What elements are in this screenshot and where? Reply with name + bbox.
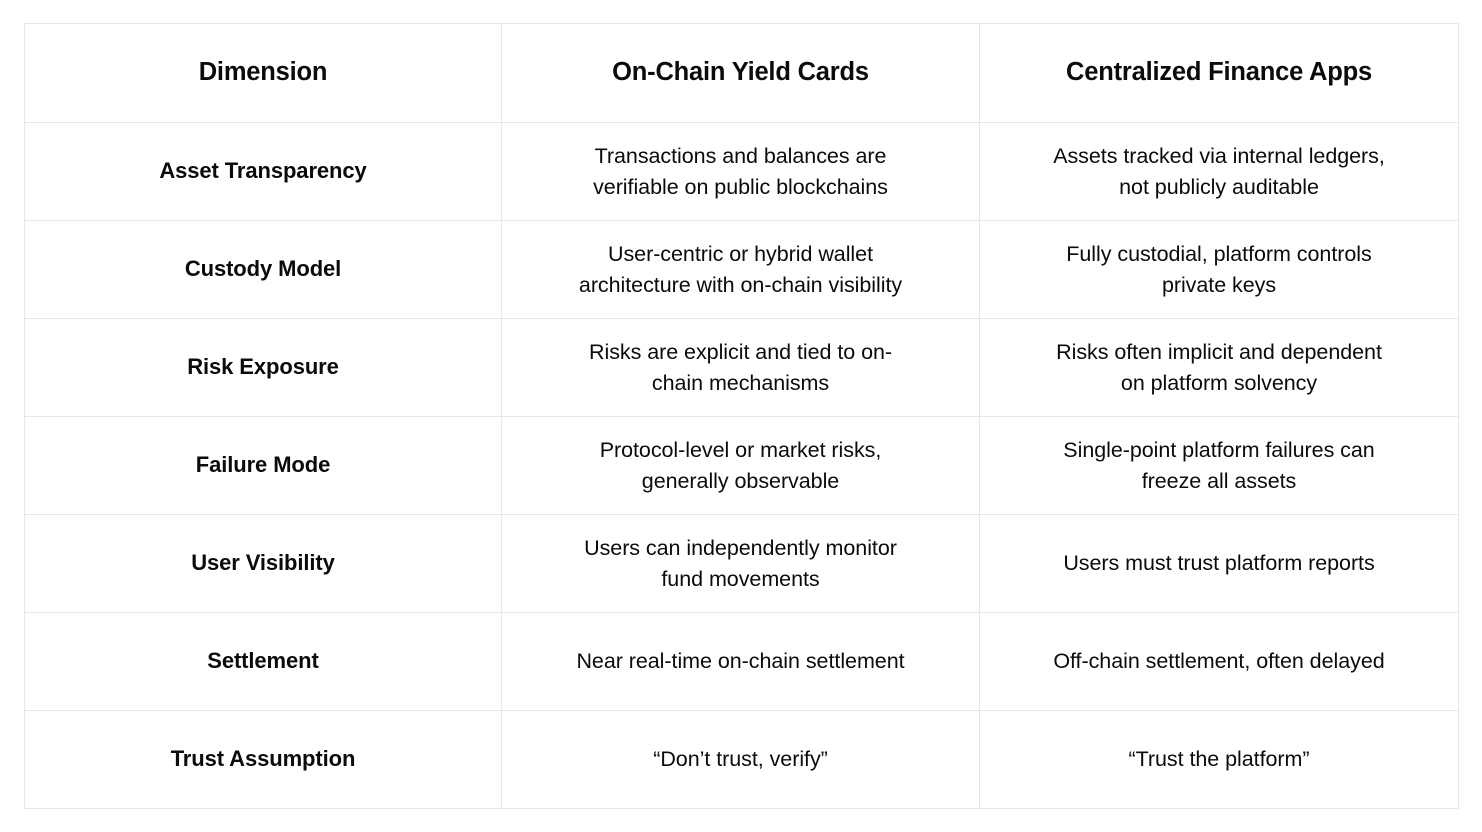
cell-cefi-asset-transparency: Assets tracked via internal ledgers,not … [980,123,1459,221]
cell-text-line: chain mechanisms [524,368,957,399]
cell-text-line: on platform solvency [1002,368,1436,399]
row-label-settlement: Settlement [25,613,502,711]
cell-onchain-custody-model: User-centric or hybrid walletarchitectur… [502,221,980,319]
row-label-asset-transparency: Asset Transparency [25,123,502,221]
cell-onchain-settlement: Near real-time on-chain settlement [502,613,980,711]
table-row: Trust Assumption “Don’t trust, verify” “… [25,711,1459,809]
cell-text-line: “Don’t trust, verify” [524,744,957,775]
cell-text-line: fund movements [524,564,957,595]
cell-text-line: generally observable [524,466,957,497]
cell-text-line: verifiable on public blockchains [524,172,957,203]
page-root: Dimension On-Chain Yield Cards Centraliz… [0,0,1482,832]
cell-text-line: Risks are explicit and tied to on- [524,337,957,368]
comparison-table: Dimension On-Chain Yield Cards Centraliz… [24,23,1459,809]
cell-text-line: Users must trust platform reports [1002,548,1436,579]
row-label-user-visibility: User Visibility [25,515,502,613]
cell-text-line: not publicly auditable [1002,172,1436,203]
table-row: Risk Exposure Risks are explicit and tie… [25,319,1459,417]
cell-onchain-trust-assumption: “Don’t trust, verify” [502,711,980,809]
cell-onchain-risk-exposure: Risks are explicit and tied to on-chain … [502,319,980,417]
cell-text-line: Single-point platform failures can [1002,435,1436,466]
row-label-failure-mode: Failure Mode [25,417,502,515]
cell-text-line: “Trust the platform” [1002,744,1436,775]
table-row: Custody Model User-centric or hybrid wal… [25,221,1459,319]
column-header-centralized-finance-apps: Centralized Finance Apps [980,24,1459,123]
table-row: Asset Transparency Transactions and bala… [25,123,1459,221]
cell-cefi-failure-mode: Single-point platform failures canfreeze… [980,417,1459,515]
cell-cefi-settlement: Off-chain settlement, often delayed [980,613,1459,711]
cell-cefi-trust-assumption: “Trust the platform” [980,711,1459,809]
cell-cefi-risk-exposure: Risks often implicit and dependenton pla… [980,319,1459,417]
cell-text-line: architecture with on-chain visibility [524,270,957,301]
cell-cefi-user-visibility: Users must trust platform reports [980,515,1459,613]
cell-text-line: private keys [1002,270,1436,301]
table-row: User Visibility Users can independently … [25,515,1459,613]
column-header-onchain-yield-cards: On-Chain Yield Cards [502,24,980,123]
row-label-trust-assumption: Trust Assumption [25,711,502,809]
cell-text-line: Near real-time on-chain settlement [524,646,957,677]
table-body: Asset Transparency Transactions and bala… [25,123,1459,809]
cell-text-line: Users can independently monitor [524,533,957,564]
cell-text-line: Transactions and balances are [524,141,957,172]
cell-text-line: freeze all assets [1002,466,1436,497]
cell-text-line: Protocol-level or market risks, [524,435,957,466]
header-row: Dimension On-Chain Yield Cards Centraliz… [25,24,1459,123]
cell-onchain-failure-mode: Protocol-level or market risks,generally… [502,417,980,515]
cell-text-line: User-centric or hybrid wallet [524,239,957,270]
cell-cefi-custody-model: Fully custodial, platform controlsprivat… [980,221,1459,319]
cell-text-line: Risks often implicit and dependent [1002,337,1436,368]
cell-onchain-user-visibility: Users can independently monitorfund move… [502,515,980,613]
cell-text-line: Assets tracked via internal ledgers, [1002,141,1436,172]
cell-text-line: Off-chain settlement, often delayed [1002,646,1436,677]
column-header-dimension: Dimension [25,24,502,123]
table-row: Settlement Near real-time on-chain settl… [25,613,1459,711]
row-label-risk-exposure: Risk Exposure [25,319,502,417]
table-header: Dimension On-Chain Yield Cards Centraliz… [25,24,1459,123]
table-row: Failure Mode Protocol-level or market ri… [25,417,1459,515]
cell-onchain-asset-transparency: Transactions and balances areverifiable … [502,123,980,221]
cell-text-line: Fully custodial, platform controls [1002,239,1436,270]
row-label-custody-model: Custody Model [25,221,502,319]
